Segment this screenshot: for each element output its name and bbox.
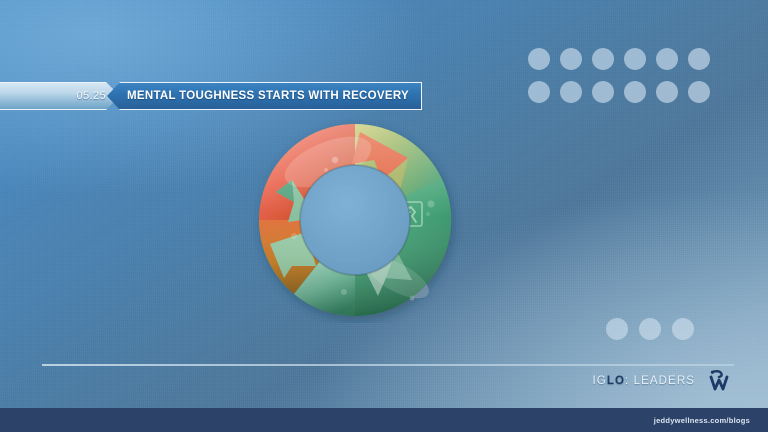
dot [639,318,661,340]
dot [688,48,710,70]
ring-body [259,124,451,316]
brand-lockup: IGLO: LEADERS [593,366,735,396]
decorative-dot-grid-top [528,48,710,103]
dot [592,48,614,70]
brand-name: IGLO: LEADERS [593,375,696,387]
headline-bar: 05.25 MENTAL TOUGHNESS STARTS WITH RECOV… [0,82,422,110]
footer-bar: jeddywellness.com/blogs [0,408,768,432]
dot [528,81,550,103]
dot [592,81,614,103]
dot [606,318,628,340]
dot [560,81,582,103]
w-logo-icon [704,366,734,396]
footer-url[interactable]: jeddywellness.com/blogs [654,416,750,425]
dot [528,48,550,70]
cyclical-recovery-ring-graphic [232,118,478,323]
dot [560,48,582,70]
dot [624,48,646,70]
date-chip: 05.25 [0,82,120,110]
dot [656,48,678,70]
date-label: 05.25 [76,90,106,102]
dot [672,318,694,340]
dot [688,81,710,103]
headline-text: MENTAL TOUGHNESS STARTS WITH RECOVERY [127,90,409,102]
dot [624,81,646,103]
headline-chip: MENTAL TOUGHNESS STARTS WITH RECOVERY [107,82,422,110]
slide-canvas: 05.25 MENTAL TOUGHNESS STARTS WITH RECOV… [0,0,768,432]
dot [656,81,678,103]
decorative-dot-row-bottom [606,318,694,340]
